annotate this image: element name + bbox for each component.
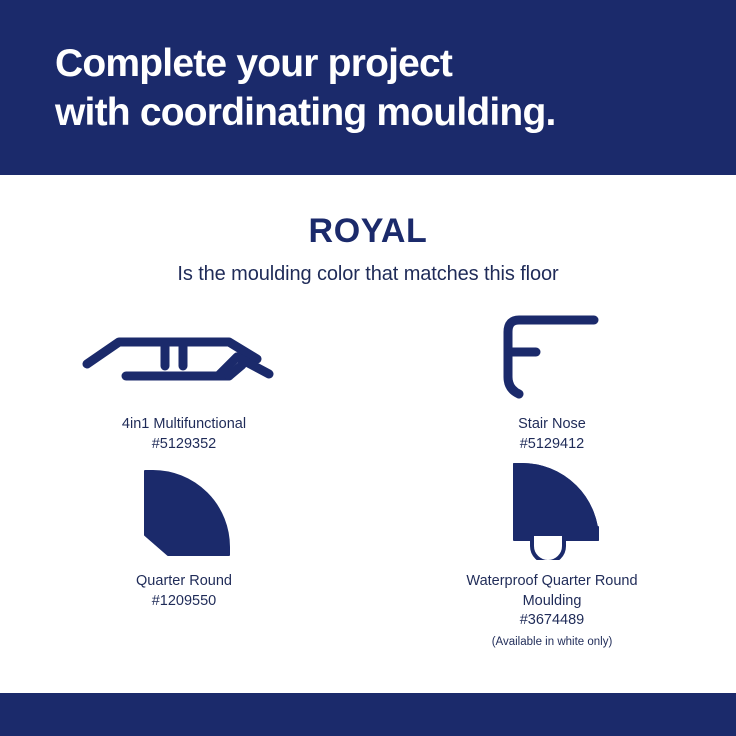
quarter-round-moulding-icon	[129, 460, 239, 560]
product-card-4in1-multifunctional[interactable]: 4in1 Multifunctional #5129352	[0, 311, 368, 454]
header-headline-line-2: with coordinating moulding.	[55, 88, 736, 137]
product-sku: #5129412	[520, 435, 585, 455]
product-grid: 4in1 Multifunctional #5129352 Stair Nose…	[0, 311, 736, 651]
product-card-quarter-round[interactable]: Quarter Round #1209550	[0, 460, 368, 651]
footer-bar	[0, 693, 736, 736]
product-icon-container	[129, 460, 239, 560]
4in1-multifunctional-moulding-icon	[79, 317, 289, 397]
header-headline-line-1: Complete your project	[55, 39, 736, 88]
product-icon-container	[79, 311, 289, 403]
header-banner: Complete your project with coordinating …	[0, 0, 736, 175]
waterproof-quarter-round-moulding-icon	[492, 460, 612, 560]
product-availability-note: (Available in white only)	[492, 634, 613, 651]
product-label: Waterproof Quarter Round Moulding	[447, 572, 657, 611]
product-label: 4in1 Multifunctional	[122, 415, 246, 435]
product-icon-container	[492, 460, 612, 560]
product-card-waterproof-quarter-round[interactable]: Waterproof Quarter Round Moulding #36744…	[368, 460, 736, 651]
product-label: Stair Nose	[518, 415, 586, 435]
product-card-stair-nose[interactable]: Stair Nose #5129412	[368, 311, 736, 454]
stair-nose-moulding-icon	[492, 311, 612, 403]
main-content: ROYAL Is the moulding color that matches…	[0, 175, 736, 693]
moulding-color-subtitle: Is the moulding color that matches this …	[0, 261, 736, 287]
moulding-color-name: ROYAL	[0, 212, 736, 250]
product-sku: #1209550	[152, 592, 217, 612]
product-label: Quarter Round	[136, 572, 232, 592]
product-sku: #3674489	[520, 611, 585, 631]
product-icon-container	[492, 311, 612, 403]
product-sku: #5129352	[152, 435, 217, 455]
